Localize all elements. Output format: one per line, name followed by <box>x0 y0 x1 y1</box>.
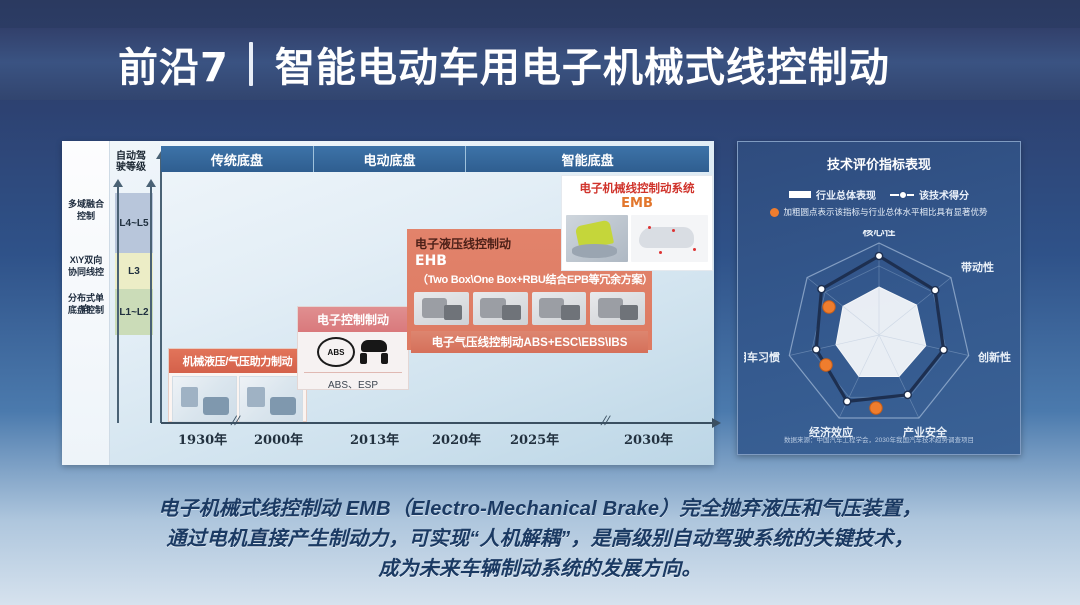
emb-diagram-marker <box>672 229 675 232</box>
ehb-photo-3 <box>532 292 587 325</box>
timeline-panel: 多域融合 控制 X\Y双向 协同线控 分布式单向 底盘控制 自动驾 驶等级 L4… <box>62 141 714 465</box>
card-emb-title-en: EMB <box>562 196 712 211</box>
year-tick-2013: 2013年 <box>350 429 399 448</box>
card-ehb-footer: 电子气压线控制动ABS+ESC\EBS\IBS <box>411 331 648 353</box>
radar-label-5: 用车习惯 <box>744 350 780 364</box>
card-emb[interactable]: 电子机械线控制动系统 EMB <box>561 175 713 271</box>
category-electric-chassis[interactable]: 电动底盘 <box>314 146 467 172</box>
emb-diagram-marker <box>648 226 651 229</box>
card-ehb-subtitle: （Two Box\One Box+RBU结合EPB等冗余方案） <box>407 269 652 287</box>
axis-break-2: // <box>600 413 612 428</box>
level-desc-0-line2: 控制 <box>64 211 108 222</box>
car-icon-wheel-right <box>381 353 388 364</box>
radar-legend: 行业总体表现 该技术得分 <box>738 187 1020 202</box>
header-badge: 前沿7 <box>118 35 229 93</box>
legend-technology-label: 该技术得分 <box>919 187 969 202</box>
radar-label-2: 创新性 <box>977 350 1011 364</box>
card-emb-title-cn: 电子机械线控制动系统 <box>562 176 712 196</box>
radar-label-1: 带动性 <box>961 260 994 274</box>
year-tick-1930: 1930年 <box>178 429 227 448</box>
level-band-l4l5: L4~L5 <box>115 193 153 253</box>
legend-industry-label: 行业总体表现 <box>816 187 876 202</box>
category-intelligent-chassis[interactable]: 智能底盘 <box>466 146 709 172</box>
level-axis-arrow-1 <box>113 179 123 187</box>
year-tick-2030: 2030年 <box>624 429 673 448</box>
header-inner: 前沿7 智能电动车用电子机械式线控制动 <box>118 35 890 93</box>
level-axis-arrow-2 <box>146 179 156 187</box>
radar-panel-title: 技术评价指标表现 <box>738 142 1020 173</box>
chassis-category-bar: 传统底盘 电动底盘 智能底盘 <box>161 146 709 172</box>
y-axis-label-line2: 驶等级 <box>116 162 146 173</box>
level-desc-1-line2: 协同线控 <box>64 267 108 278</box>
card-abs-caption: ABS、ESP <box>304 372 402 391</box>
legend-technology-score: 该技术得分 <box>890 187 969 202</box>
ehb-photo-2 <box>473 292 528 325</box>
legend-bar-swatch <box>789 191 811 198</box>
radar-source-note: 数据来源：中国汽车工程学会，2030年我国汽车技术趋势调查项目 <box>738 434 1020 444</box>
slide-header: 前沿7 智能电动车用电子机械式线控制动 <box>0 28 1080 100</box>
category-traditional-chassis[interactable]: 传统底盘 <box>161 146 314 172</box>
caption-line-3: 成为未来车辆制动系统的发展方向。 <box>0 554 1080 584</box>
level-desc-0-line1: 多域融合 <box>64 199 108 210</box>
legend-industry-overall: 行业总体表现 <box>789 187 876 202</box>
level-desc-1-line1: X\Y双向 <box>64 255 108 266</box>
y-axis-label: 自动驾 驶等级 <box>111 151 151 173</box>
page-title: 智能电动车用电子机械式线控制动 <box>275 35 890 93</box>
mechanical-photo-1 <box>172 376 237 422</box>
card-abs-title: 电子控制制动 <box>298 307 408 332</box>
radar-panel: 技术评价指标表现 行业总体表现 该技术得分 加粗圆点表示该指标与行业总体水平相比… <box>737 141 1021 455</box>
ehb-photo-4 <box>590 292 645 325</box>
emb-caliper-photo <box>566 215 628 262</box>
y-axis-label-line1: 自动驾 <box>116 151 146 162</box>
level-axis-line-1 <box>117 187 119 423</box>
level-band-l3: L3 <box>115 253 153 289</box>
year-tick-2025: 2025年 <box>510 429 559 448</box>
slide-caption: 电子机械式线控制动 EMB（Electro-Mechanical Brake）完… <box>0 494 1080 584</box>
emb-vehicle-diagram <box>631 215 708 262</box>
level-axis-line-2 <box>150 187 152 423</box>
year-tick-2020: 2020年 <box>432 429 481 448</box>
level-band-l1l2: L1~L2 <box>115 289 153 335</box>
card-mechanical-brake[interactable]: 机械液压/气压助力制动 <box>168 348 307 422</box>
ehb-photo-1 <box>414 292 469 325</box>
card-mechanical-title: 机械液压/气压助力制动 <box>169 349 306 373</box>
caption-line-1: 电子机械式线控制动 EMB（Electro-Mechanical Brake）完… <box>0 494 1080 524</box>
slide-root: 前沿7 智能电动车用电子机械式线控制动 多域融合 控制 X\Y双向 协同线控 分… <box>0 0 1080 605</box>
car-icon <box>359 340 389 364</box>
timeline-axis <box>161 422 713 424</box>
emb-diagram-marker <box>693 248 696 251</box>
level-axis-line-3 <box>160 159 162 423</box>
radar-label-0: 核心性 <box>863 230 896 238</box>
card-ehb-photos <box>407 287 652 325</box>
emb-diagram-marker <box>659 251 662 254</box>
header-divider <box>249 42 253 86</box>
card-emb-photos <box>562 211 712 266</box>
legend-line-swatch <box>890 194 914 196</box>
year-tick-2000: 2000年 <box>254 429 303 448</box>
radar-series-industry <box>836 287 926 377</box>
level-desc-2-line2: 底盘控制 <box>64 305 108 316</box>
radar-note-text: 加粗圆点表示该指标与行业总体水平相比具有显著优势 <box>783 206 987 218</box>
card-abs-icons: ABS <box>298 332 408 372</box>
radar-note: 加粗圆点表示该指标与行业总体水平相比具有显著优势 <box>738 206 1020 218</box>
radar-chart: 核心性 带动性 创新性 产业安全 经济效应 用车习惯 <box>744 230 1014 460</box>
car-icon-wheel-left <box>360 353 367 364</box>
card-electronic-control-brake[interactable]: 电子控制制动 ABS ABS、ESP <box>297 306 409 390</box>
orange-dot-icon <box>770 208 779 217</box>
abs-icon: ABS <box>317 337 355 367</box>
car-icon-body <box>361 340 387 352</box>
caption-line-2: 通过电机直接产生制动力，可实现“人机解耦”，是高级别自动驾驶系统的关键技术， <box>0 524 1080 554</box>
mechanical-photo-2 <box>239 376 304 422</box>
